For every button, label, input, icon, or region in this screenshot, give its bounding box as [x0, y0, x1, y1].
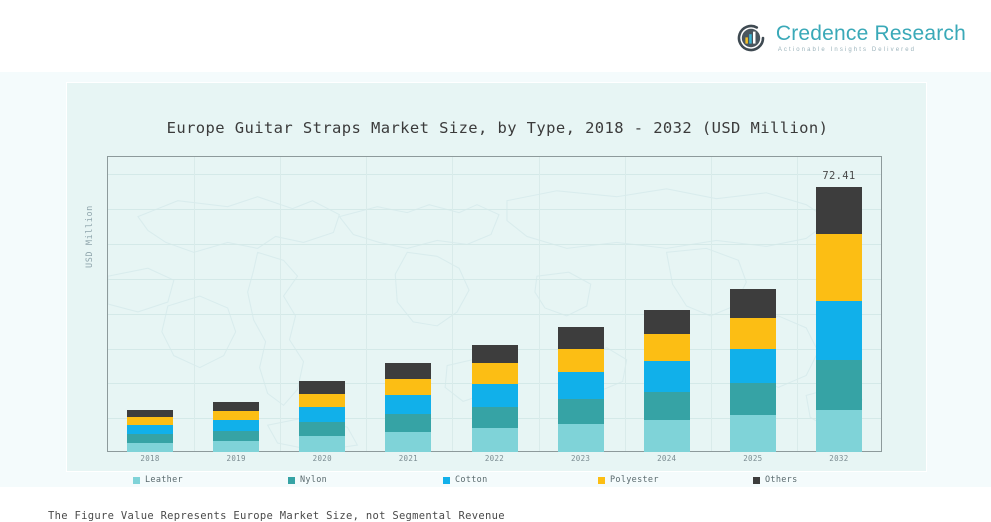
bar-segment-others[interactable] — [730, 289, 776, 318]
bar-segment-others[interactable] — [644, 310, 690, 335]
x-axis: 201820192020202120222023202420252032 — [107, 454, 882, 472]
brand-name: Credence Research — [776, 23, 966, 44]
bar-segment-others[interactable] — [558, 327, 604, 349]
chart-title: Europe Guitar Straps Market Size, by Typ… — [67, 119, 928, 137]
bar-segment-cotton[interactable] — [644, 361, 690, 391]
bar-segment-polyester[interactable] — [816, 234, 862, 302]
x-axis-tick: 2020 — [282, 454, 362, 463]
legend-item-cotton[interactable]: Cotton — [443, 475, 488, 485]
page-header: Credence Research Actionable Insights De… — [0, 0, 991, 72]
legend-label: Cotton — [455, 475, 488, 485]
x-axis-tick: 2032 — [799, 454, 879, 463]
legend-swatch-icon — [133, 477, 140, 484]
bar-segment-leather[interactable] — [213, 441, 259, 452]
chart-legend: LeatherNylonCottonPolyesterOthers — [107, 475, 882, 491]
legend-label: Others — [765, 475, 798, 485]
bar-segment-cotton[interactable] — [299, 407, 345, 422]
x-axis-tick: 2022 — [455, 454, 535, 463]
brand-logo: Credence Research Actionable Insights De… — [735, 22, 966, 54]
bar-segment-others[interactable] — [472, 345, 518, 364]
bar-segment-leather[interactable] — [730, 415, 776, 452]
bar-segment-nylon[interactable] — [127, 434, 173, 442]
bar-segment-leather[interactable] — [816, 410, 862, 452]
brand-logo-text: Credence Research Actionable Insights De… — [776, 23, 966, 53]
bar-segment-polyester[interactable] — [385, 379, 431, 396]
bar-series-container: 72.41 — [107, 156, 882, 452]
bar-segment-polyester[interactable] — [644, 334, 690, 361]
bar-segment-cotton[interactable] — [385, 395, 431, 414]
legend-label: Polyester — [610, 475, 659, 485]
bar-segment-nylon[interactable] — [299, 422, 345, 436]
chart-canvas: Europe Guitar Straps Market Size, by Typ… — [0, 72, 991, 487]
bar-segment-polyester[interactable] — [299, 394, 345, 408]
legend-item-nylon[interactable]: Nylon — [288, 475, 327, 485]
chart-panel: Europe Guitar Straps Market Size, by Typ… — [66, 82, 927, 472]
bar-segment-others[interactable] — [213, 402, 259, 411]
bar-segment-others[interactable] — [127, 410, 173, 417]
bar-segment-leather[interactable] — [558, 424, 604, 452]
legend-item-polyester[interactable]: Polyester — [598, 475, 659, 485]
bar-stack[interactable] — [213, 402, 259, 452]
bar-segment-cotton[interactable] — [730, 349, 776, 384]
credence-logo-icon — [735, 22, 767, 54]
bar-segment-leather[interactable] — [644, 420, 690, 452]
legend-swatch-icon — [598, 477, 605, 484]
bar-stack[interactable] — [558, 327, 604, 452]
legend-swatch-icon — [443, 477, 450, 484]
bar-value-label: 72.41 — [794, 170, 884, 182]
bar-segment-cotton[interactable] — [213, 420, 259, 431]
bar-segment-cotton[interactable] — [816, 301, 862, 360]
x-axis-tick: 2023 — [541, 454, 621, 463]
bar-segment-leather[interactable] — [299, 436, 345, 452]
bar-segment-others[interactable] — [816, 187, 862, 233]
bar-segment-polyester[interactable] — [213, 411, 259, 421]
x-axis-tick: 2024 — [627, 454, 707, 463]
legend-label: Nylon — [300, 475, 327, 485]
bar-segment-cotton[interactable] — [558, 372, 604, 399]
bar-segment-others[interactable] — [385, 363, 431, 378]
legend-label: Leather — [145, 475, 183, 485]
legend-swatch-icon — [288, 477, 295, 484]
chart-footnote: The Figure Value Represents Europe Marke… — [48, 510, 505, 522]
bar-segment-leather[interactable] — [385, 432, 431, 452]
bar-segment-polyester[interactable] — [730, 318, 776, 349]
x-axis-tick: 2025 — [713, 454, 793, 463]
bar-segment-nylon[interactable] — [644, 392, 690, 420]
x-axis-tick: 2021 — [368, 454, 448, 463]
bar-stack[interactable]: 72.41 — [816, 187, 862, 452]
legend-item-others[interactable]: Others — [753, 475, 798, 485]
legend-item-leather[interactable]: Leather — [133, 475, 183, 485]
bar-segment-leather[interactable] — [127, 443, 173, 453]
bar-stack[interactable] — [730, 289, 776, 452]
bar-segment-cotton[interactable] — [472, 384, 518, 407]
x-axis-tick: 2019 — [196, 454, 276, 463]
bar-stack[interactable] — [644, 309, 690, 452]
bar-stack[interactable] — [385, 363, 431, 452]
bar-stack[interactable] — [472, 345, 518, 452]
bar-stack[interactable] — [127, 410, 173, 452]
bar-stack[interactable] — [299, 381, 345, 452]
bar-segment-nylon[interactable] — [558, 399, 604, 424]
bar-segment-nylon[interactable] — [816, 360, 862, 409]
bar-segment-polyester[interactable] — [558, 349, 604, 373]
brand-tagline: Actionable Insights Delivered — [776, 47, 966, 53]
bar-segment-polyester[interactable] — [472, 363, 518, 383]
bar-segment-polyester[interactable] — [127, 417, 173, 425]
bar-segment-cotton[interactable] — [127, 425, 173, 434]
bar-segment-others[interactable] — [299, 381, 345, 393]
bar-segment-leather[interactable] — [472, 428, 518, 452]
y-axis-title: USD Million — [85, 205, 95, 268]
x-axis-tick: 2018 — [110, 454, 190, 463]
bar-segment-nylon[interactable] — [385, 414, 431, 432]
bar-segment-nylon[interactable] — [472, 407, 518, 428]
bar-segment-nylon[interactable] — [213, 431, 259, 441]
bar-segment-nylon[interactable] — [730, 383, 776, 415]
legend-swatch-icon — [753, 477, 760, 484]
